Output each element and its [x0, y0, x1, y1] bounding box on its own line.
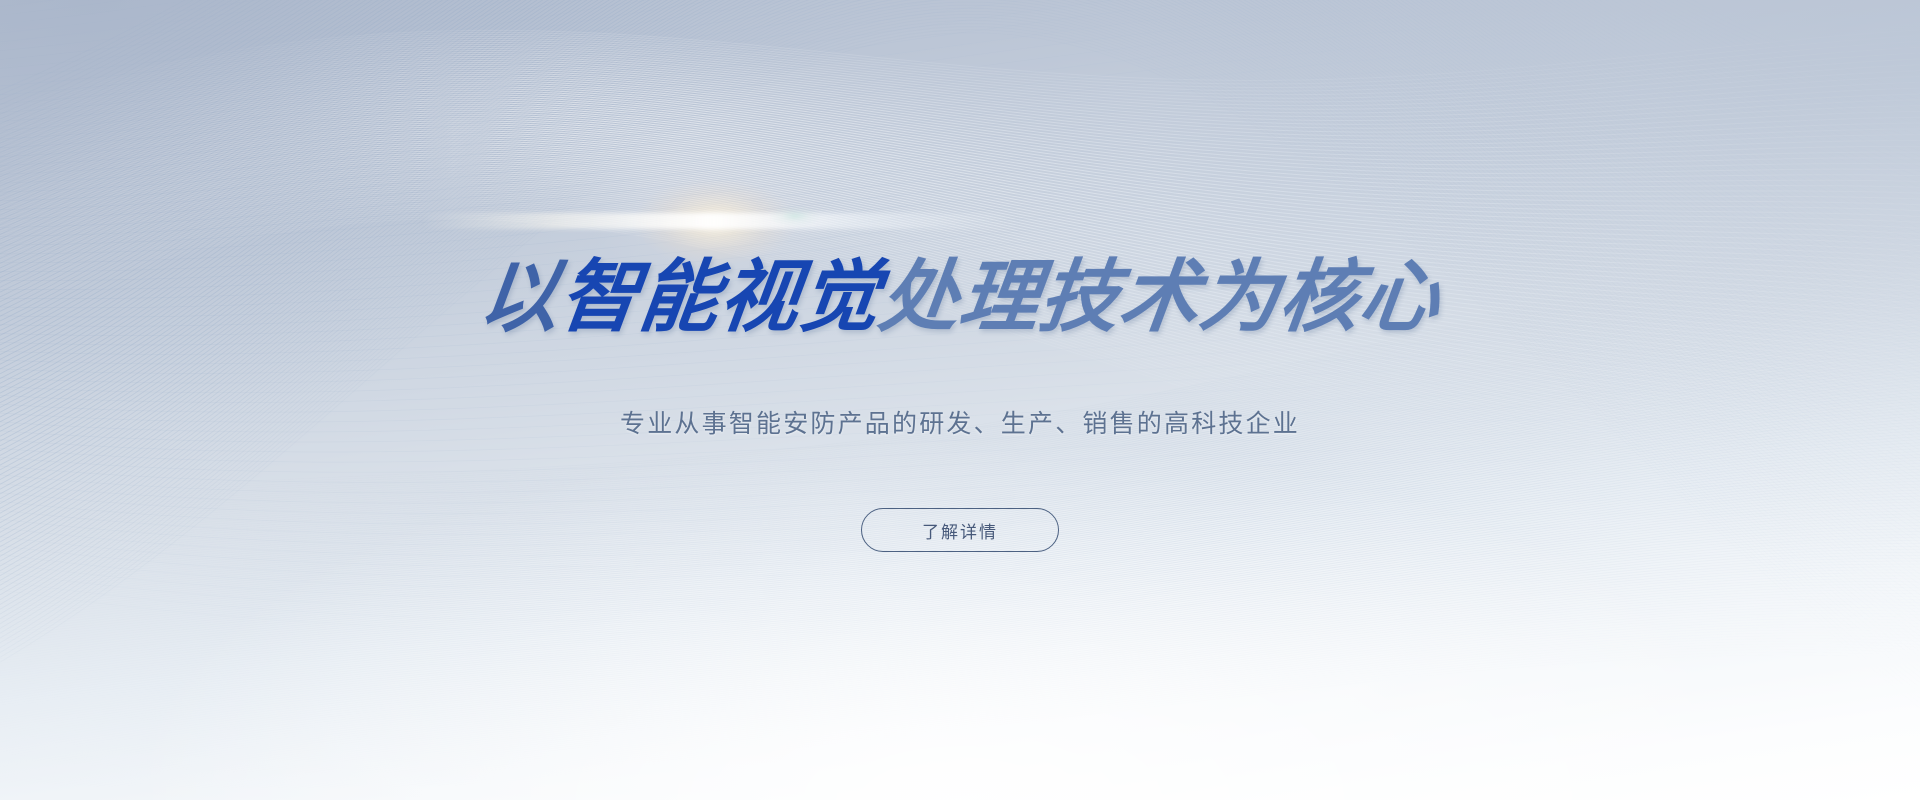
headline-segment-rest: 处理技术为核心	[875, 256, 1445, 339]
headline-segment-prefix: 以	[475, 256, 565, 339]
hero-banner: 以智能视觉处理技术为核心 专业从事智能安防产品的研发、生产、销售的高科技企业 了…	[0, 0, 1920, 800]
learn-more-button[interactable]: 了解详情	[861, 508, 1059, 552]
hero-content: 以智能视觉处理技术为核心 专业从事智能安防产品的研发、生产、销售的高科技企业 了…	[0, 0, 1920, 800]
headline-segment-accent: 智能视觉	[555, 256, 885, 339]
page-title: 以智能视觉处理技术为核心	[480, 256, 1440, 339]
page-subtitle: 专业从事智能安防产品的研发、生产、销售的高科技企业	[620, 404, 1300, 440]
